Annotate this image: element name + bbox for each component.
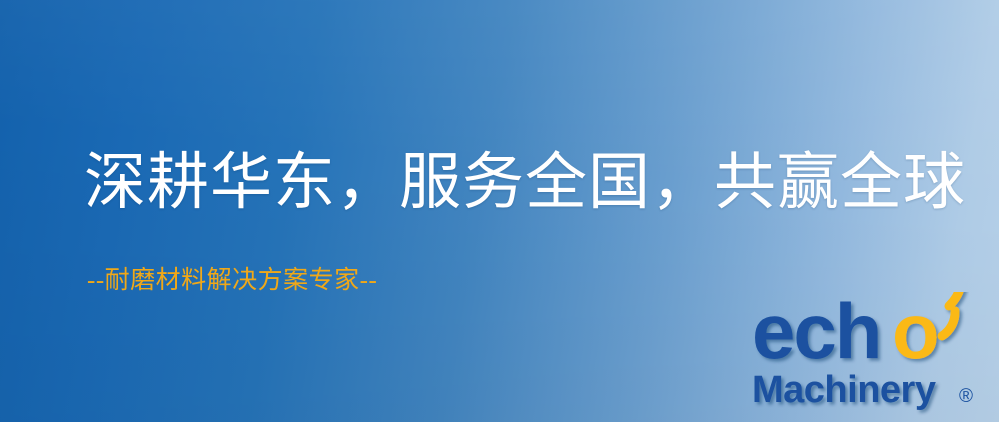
banner-subtitle: --耐磨材料解决方案专家-- [87,268,377,293]
logo-echo-prefix: ech [752,292,880,375]
promo-banner: 深耕华东，服务全国，共赢全球 --耐磨材料解决方案专家-- ech o Mach… [0,0,999,422]
logo-echo-accent-letter: o [892,292,940,375]
echo-machinery-logo[interactable]: ech o Machinery ® [744,292,996,418]
logo-machinery-word: Machinery [752,369,936,411]
signal-waves-icon [942,292,962,336]
logo-trademark-symbol: ® [959,386,973,407]
banner-headline: 深耕华东，服务全国，共赢全球 [84,152,966,214]
